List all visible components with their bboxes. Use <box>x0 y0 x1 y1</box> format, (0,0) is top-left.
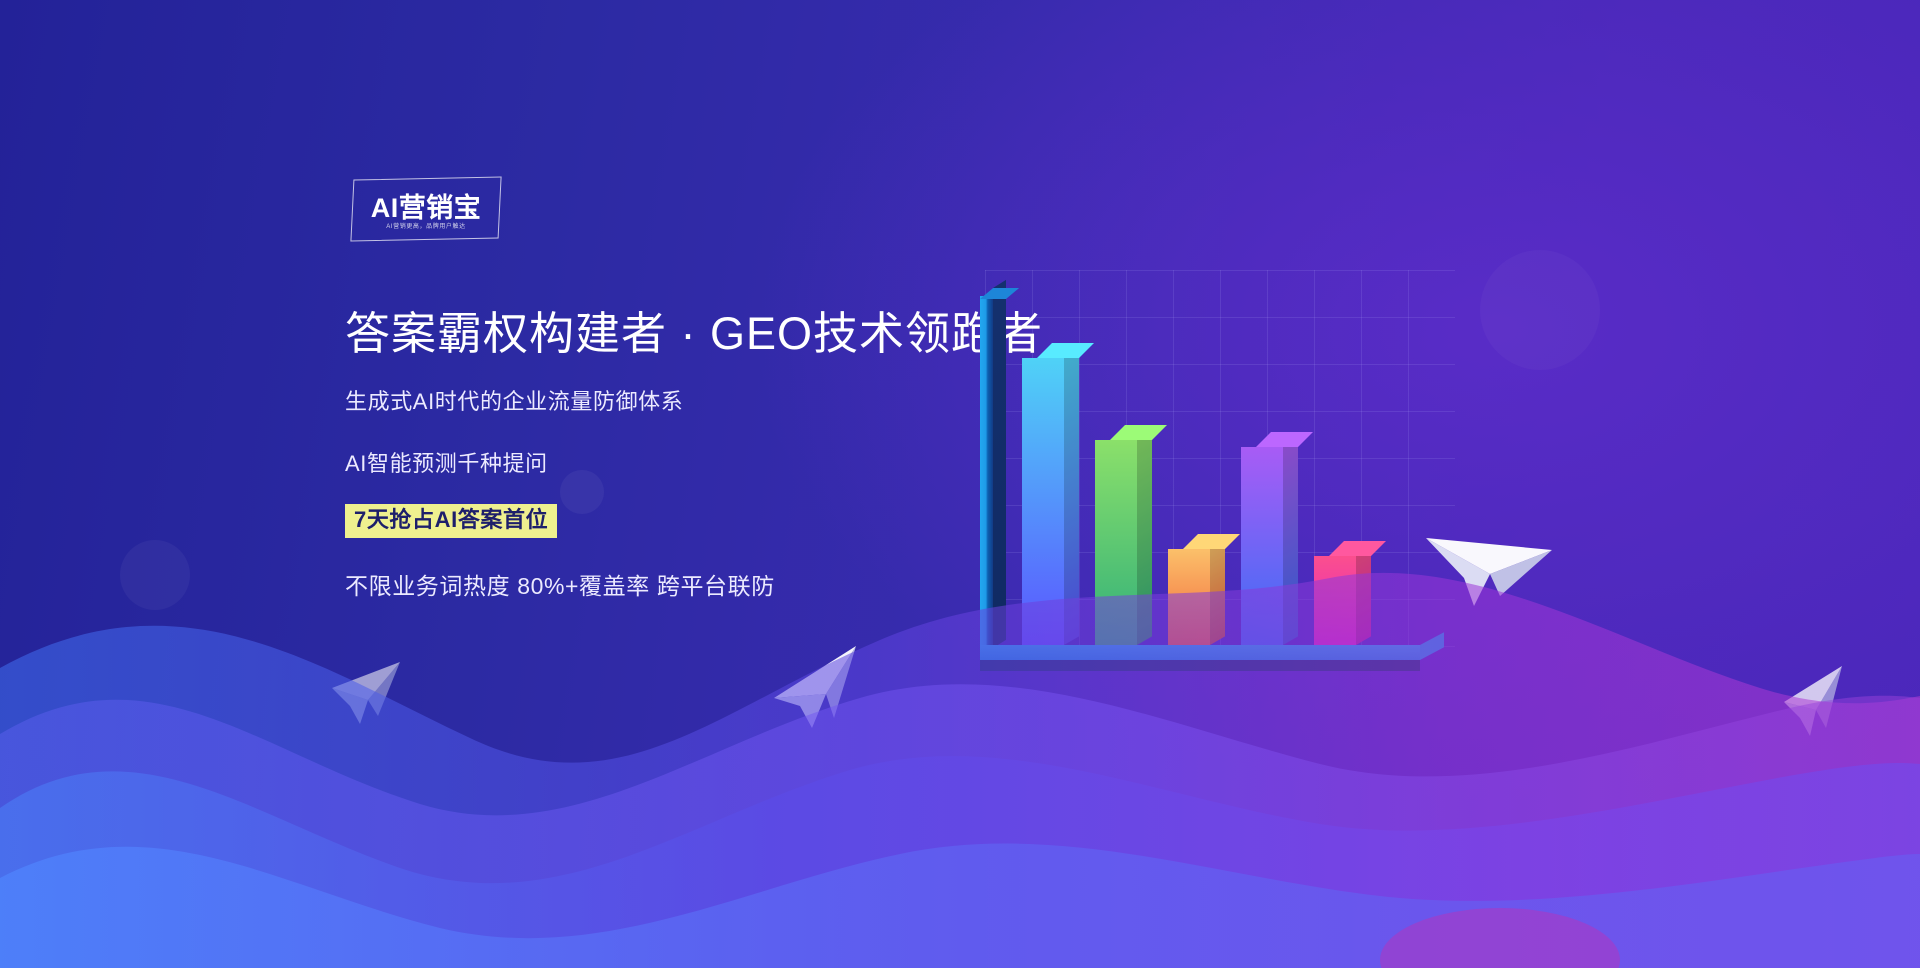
wave-decoration <box>0 548 1920 968</box>
chart-bar-top <box>1256 432 1313 447</box>
hero-subline-1: 生成式AI时代的企业流量防御体系 <box>345 384 985 416</box>
page-title: 答案霸权构建者 · GEO技术领跑者 <box>345 308 985 360</box>
chart-bar-top <box>1037 343 1094 358</box>
chart-bar-top <box>1110 425 1167 440</box>
hero-highlight-row: 7天抢占AI答案首位 <box>345 504 985 538</box>
logo-wordmark: AI营销宝 <box>371 195 482 222</box>
chart-bar-top <box>1183 534 1240 549</box>
logo-tagline: AI营销更高，品牌用户触达 <box>386 224 465 230</box>
hero-subline-2: AI智能预测千种提问 <box>345 446 985 478</box>
chart-y-axis-cap <box>980 288 1019 299</box>
hero-banner: AI营销宝 AI营销更高，品牌用户触达 答案霸权构建者 · GEO技术领跑者 生… <box>0 0 1920 968</box>
brand-logo[interactable]: AI营销宝 AI营销更高，品牌用户触达 <box>352 178 500 240</box>
decor-circle <box>1480 250 1600 370</box>
highlight-badge: 7天抢占AI答案首位 <box>345 504 557 538</box>
